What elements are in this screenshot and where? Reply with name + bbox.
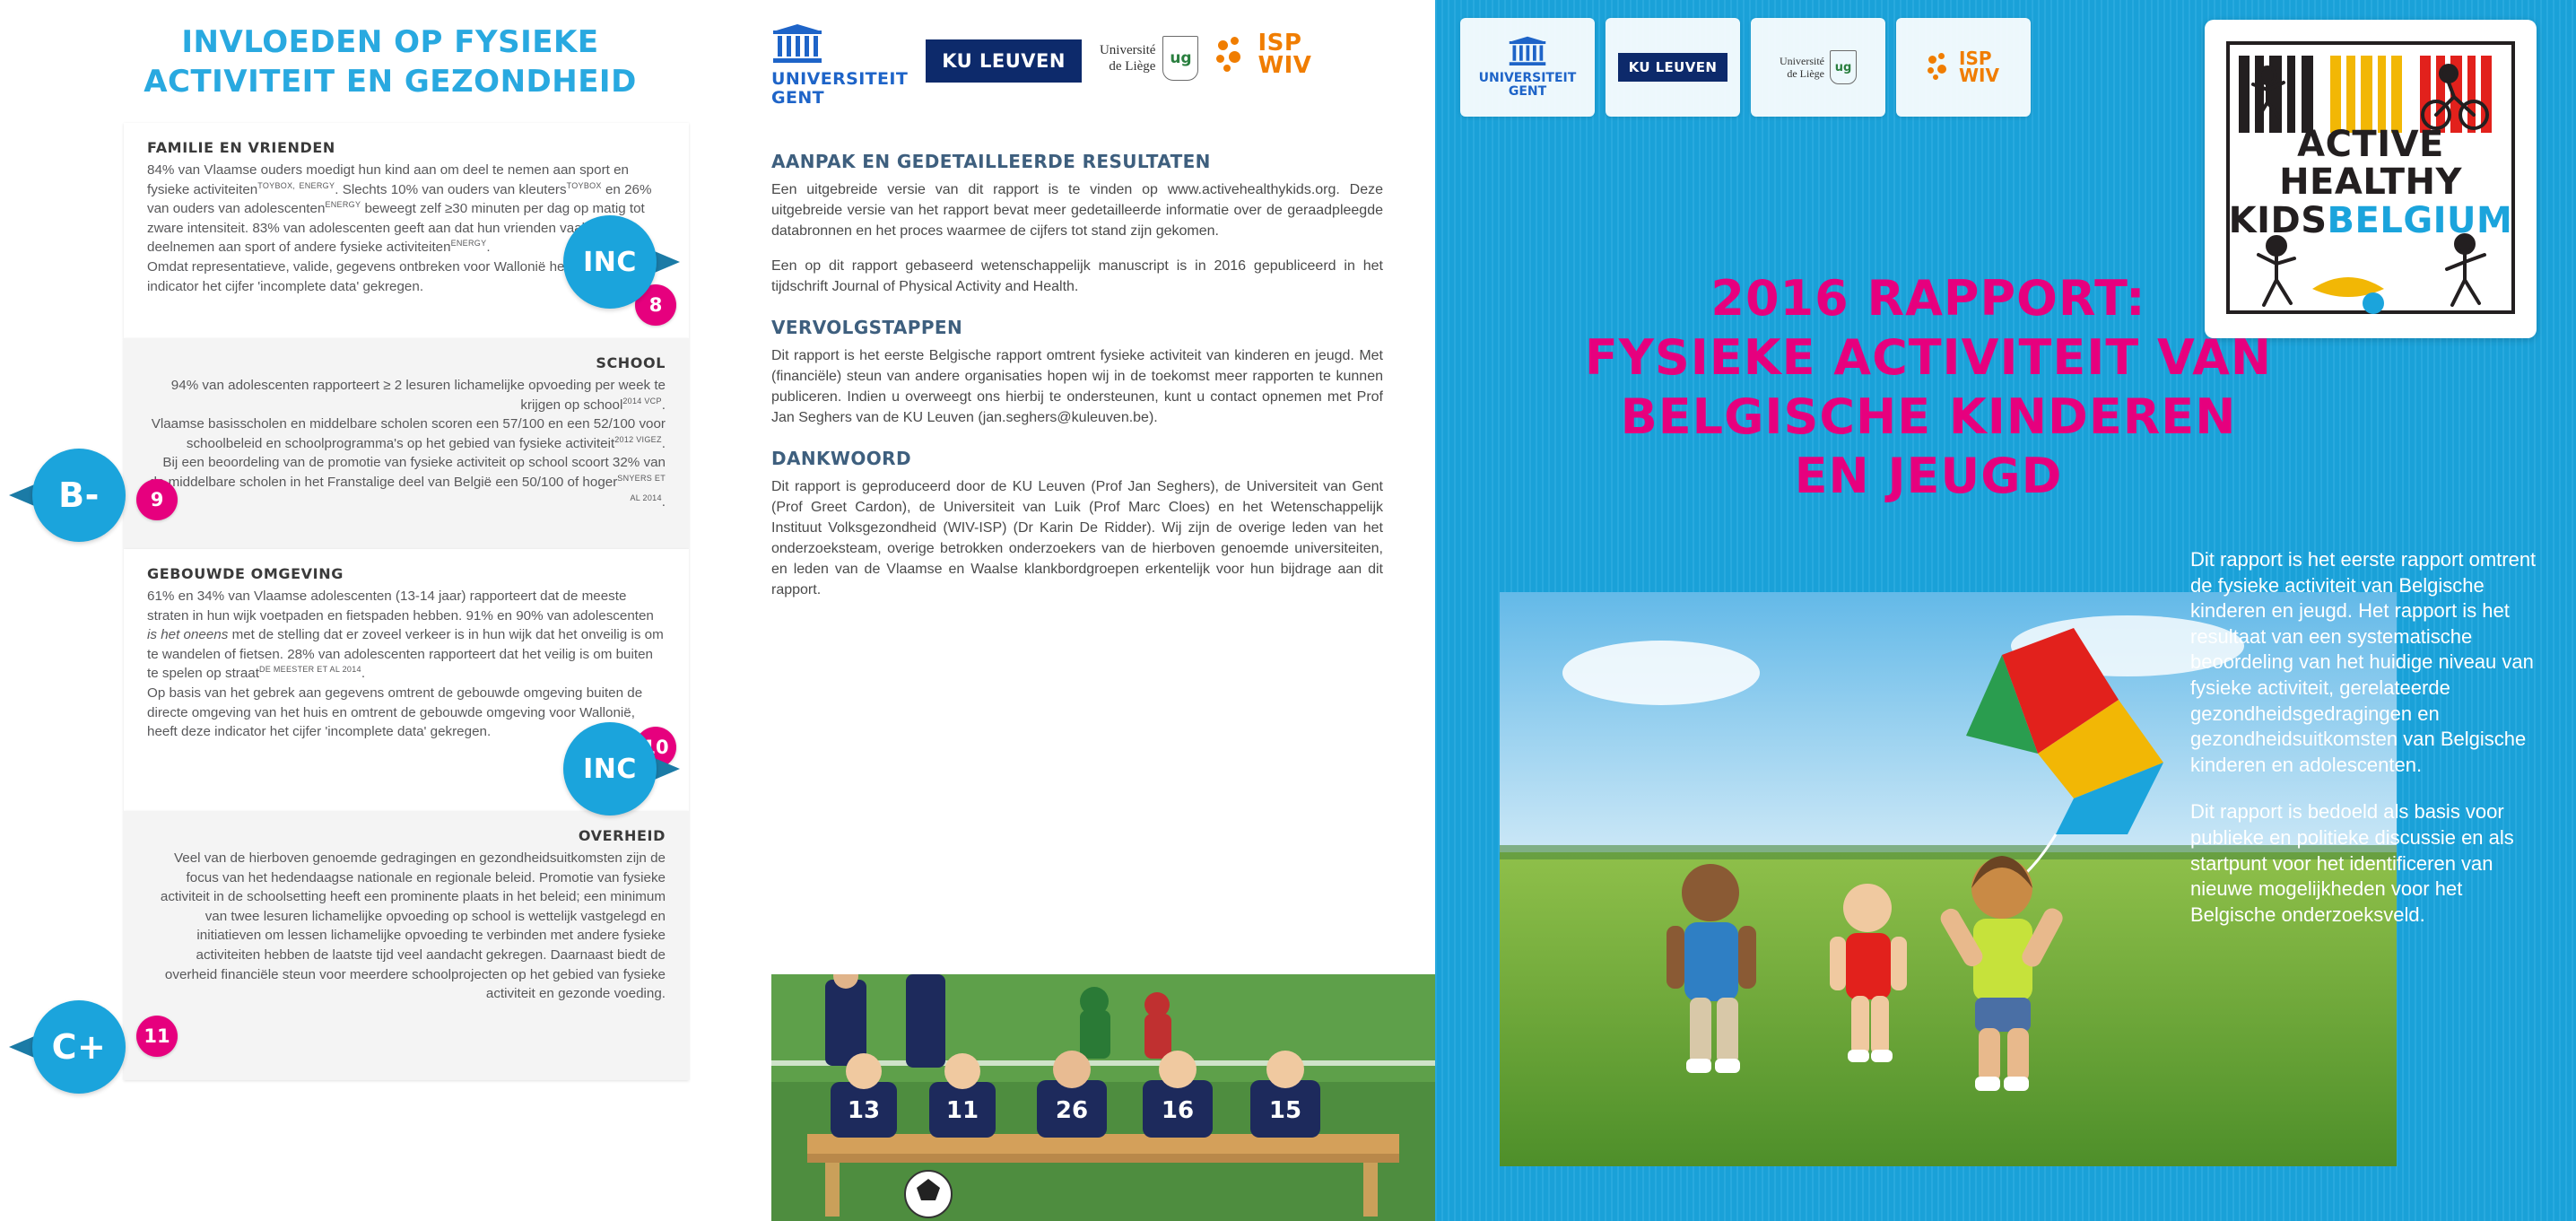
logo-line-1: UNIVERSITEIT [1479,72,1577,85]
photo-football-kids-bench: 13 11 26 16 [771,974,1435,1221]
section-body: 94% van adolescenten rapporteert ≥ 2 les… [147,376,666,511]
logo-kuleuven-label: KU LEUVEN [1618,53,1728,82]
logo-line-1: ISP [1258,32,1311,55]
mid-paragraph: Dit rapport is geproduceerd door de KU L… [771,476,1383,600]
brand-word-belgium: BELGIUM [2328,200,2513,241]
logo-ugent-label: UNIVERSITEIT GENT [1479,72,1577,100]
mid-heading-vervolgstappen: VERVOLGSTAPPEN [771,317,1399,338]
logo-isp-label: ISP WIV [1258,32,1311,76]
grade-callout-familie: INC [563,215,680,309]
logo-line-1: Université [1100,42,1155,58]
logo-isp-wiv: ISP WIV [1216,32,1311,76]
section-heading: OVERHEID [147,827,666,844]
grade-value: B- [32,449,126,542]
svg-text:13: 13 [848,1097,880,1124]
university-building-icon [1508,36,1547,68]
logo-uliege: Université de Liège ug [1100,36,1198,81]
grade-value: C+ [32,1000,126,1094]
grade-callout-overheid: C+ [9,1000,126,1094]
report-title-line: BELGISCHE KINDEREN [1453,388,2404,447]
brand-line-1: ACTIVE HEALTHY [2205,126,2537,202]
logo-line-1: Université [1780,55,1824,67]
mid-heading-dankwoord: DANKWOORD [771,448,1399,469]
partner-logos-middle: UNIVERSITEIT GENT KU LEUVEN Université d… [753,23,1399,131]
logo-card-ugent: UNIVERSITEIT GENT [1460,18,1595,117]
logo-uliege-label: Université de Liège [1100,42,1155,74]
brand-line-2: KIDSBELGIUM [2205,202,2537,240]
report-description: Dit rapport is het eerste rapport omtren… [2190,547,2549,949]
logo-ugent-label: UNIVERSITEIT GENT [771,70,908,109]
brand-word-kids: KIDS [2229,200,2328,241]
svg-text:26: 26 [1056,1097,1088,1124]
grade-value: INC [563,722,657,815]
indicator-badge-11: 11 [136,1016,178,1057]
section-heading: GEBOUWDE OMGEVING [147,565,666,582]
report-title-line: 2016 RAPPORT: [1453,269,2404,328]
report-title: 2016 RAPPORT: FYSIEKE ACTIVITEIT VAN BEL… [1453,269,2404,506]
logo-uliege-label: Université de Liège [1780,55,1824,81]
svg-text:11: 11 [946,1097,979,1124]
logo-ugent: UNIVERSITEIT GENT [771,23,908,109]
report-title-line: FYSIEKE ACTIVITEIT VAN [1453,328,2404,388]
logo-card-isp-wiv: ISP WIV [1896,18,2031,117]
left-panel: INVLOEDEN OP FYSIEKE ACTIVITEIT EN GEZON… [0,0,744,1221]
section-body: Veel van de hierboven genoemde gedraging… [147,849,666,1004]
grade-callout-school: B- [9,449,126,542]
description-paragraph: Dit rapport is het eerste rapport omtren… [2190,547,2549,778]
section-card-school: SCHOOL 94% van adolescenten rapporteert … [124,338,689,549]
logo-line-2: GENT [771,89,908,108]
isp-dots-icon [1216,37,1252,73]
svg-text:15: 15 [1269,1097,1301,1124]
university-building-icon [771,23,823,66]
uliege-shield-icon: ug [1162,36,1198,81]
logo-line-1: UNIVERSITEIT [771,70,908,89]
mid-paragraph: Een op dit rapport gebaseerd wetenschapp… [771,256,1383,297]
logo-line-2: de Liège [1100,58,1155,74]
section-heading: FAMILIE EN VRIENDEN [147,139,666,156]
logo-card-uliege: Université de Liège ug [1751,18,1885,117]
grade-value: INC [563,215,657,309]
mid-paragraph: Dit rapport is het eerste Belgische rapp… [771,345,1383,428]
isp-dots-icon [1928,53,1954,82]
mid-heading-aanpak: AANPAK EN GEDETAILLEERDE RESULTATEN [771,151,1399,172]
logo-line-2: WIV [1959,67,1999,84]
mid-paragraph: Een uitgebreide versie van dit rapport i… [771,179,1383,241]
grade-callout-gebouwde-omgeving: INC [563,722,680,815]
report-title-line: EN JEUGD [1453,447,2404,506]
section-card-overheid: OVERHEID Veel van de hierboven genoemde … [124,811,689,1080]
svg-text:16: 16 [1162,1097,1194,1124]
middle-panel: UNIVERSITEIT GENT KU LEUVEN Université d… [744,0,1435,1221]
uliege-shield-icon: ug [1830,50,1857,84]
brand-title: ACTIVE HEALTHY KIDSBELGIUM [2205,126,2537,240]
indicator-badge-9: 9 [136,479,178,520]
brochure-page: INVLOEDEN OP FYSIEKE ACTIVITEIT EN GEZON… [0,0,2576,1221]
logo-line-2: WIV [1258,55,1311,77]
logo-line-2: GENT [1479,85,1577,99]
photo-illustration: 13 11 26 16 [771,974,1435,1221]
logo-kuleuven: KU LEUVEN [926,39,1082,83]
description-paragraph: Dit rapport is bedoeld als basis voor pu… [2190,799,2549,928]
left-panel-title: INVLOEDEN OP FYSIEKE ACTIVITEIT EN GEZON… [0,0,744,101]
right-panel: UNIVERSITEIT GENT KU LEUVEN Université d… [1435,0,2576,1221]
logo-card-kuleuven: KU LEUVEN [1606,18,1740,117]
section-body: 61% en 34% van Vlaamse adolescenten (13-… [147,587,666,742]
logo-isp-label: ISP WIV [1959,50,1999,84]
logo-line-2: de Liège [1780,67,1824,80]
section-heading: SCHOOL [147,354,666,371]
